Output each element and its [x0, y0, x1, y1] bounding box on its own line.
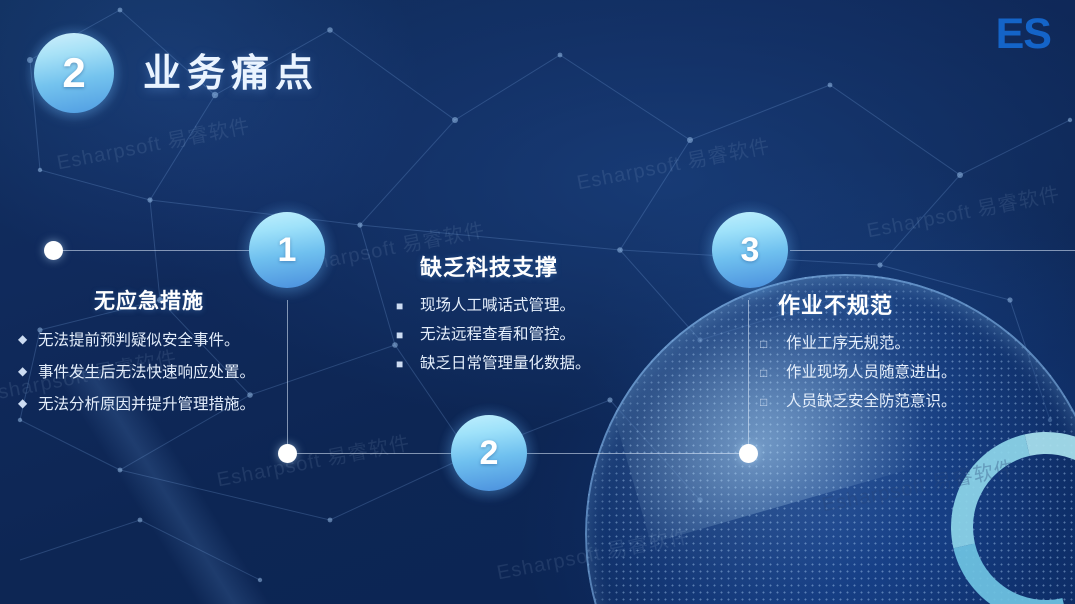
connector-line-left-top [62, 250, 250, 251]
diamond-bullet-icon: ◆ [18, 325, 38, 353]
list-item-text: 人员缺乏安全防范意识。 [786, 388, 1060, 416]
diamond-bullet-icon: ◆ [18, 389, 38, 417]
list-item-text: 无法远程查看和管控。 [420, 321, 696, 349]
page-title: 业务痛点 [143, 42, 319, 97]
hollow-square-bullet-icon: □ [760, 388, 786, 416]
list-item: □ 人员缺乏安全防范意识。 [760, 388, 1060, 416]
hollow-square-bullet-icon: □ [760, 330, 786, 358]
column-heading-right: 作业不规范 [760, 288, 1060, 320]
diamond-bullet-icon: ◆ [18, 357, 38, 385]
list-item: ◆ 事件发生后无法快速响应处置。 [18, 357, 264, 388]
bullet-list-right: □ 作业工序无规范。 □ 作业现场人员随意进出。 □ 人员缺乏安全防范意识。 [760, 330, 1060, 416]
endpoint-dot-bottom-right [739, 444, 758, 463]
endpoint-dot-bottom-left [278, 444, 297, 463]
list-item: ◆ 无法提前预判疑似安全事件。 [18, 325, 264, 356]
list-item-text: 作业工序无规范。 [786, 330, 1060, 358]
filled-square-bullet-icon: ■ [396, 350, 420, 378]
column-lack-of-technology-support: 缺乏科技支撑 ■ 现场人工喊话式管理。 ■ 无法远程查看和管控。 ■ 缺乏日常管… [396, 250, 696, 379]
column-no-emergency-measures: 无应急措施 ◆ 无法提前预判疑似安全事件。 ◆ 事件发生后无法快速响应处置。 ◆… [18, 285, 264, 421]
list-item-text: 无法提前预判疑似安全事件。 [38, 325, 264, 356]
list-item: □ 作业现场人员随意进出。 [760, 359, 1060, 387]
list-item-text: 事件发生后无法快速响应处置。 [38, 357, 264, 388]
node-circle-2[interactable]: 2 [439, 403, 539, 503]
connector-line-node1-down [287, 300, 288, 453]
header-step-number: 2 [25, 24, 123, 122]
list-item-text: 无法分析原因并提升管理措施。 [38, 389, 264, 420]
column-non-standard-operations: 作业不规范 □ 作业工序无规范。 □ 作业现场人员随意进出。 □ 人员缺乏安全防… [760, 288, 1060, 417]
filled-square-bullet-icon: ■ [396, 321, 420, 349]
es-logo: ES [996, 10, 1051, 59]
connector-line-right-top [790, 250, 1075, 251]
connector-line-node3-down [748, 300, 749, 453]
node-circle-3[interactable]: 3 [700, 200, 800, 300]
node-number-3: 3 [700, 200, 800, 300]
endpoint-dot-left [44, 241, 63, 260]
list-item: ■ 缺乏日常管理量化数据。 [396, 350, 696, 378]
filled-square-bullet-icon: ■ [396, 292, 420, 320]
bullet-list-left: ◆ 无法提前预判疑似安全事件。 ◆ 事件发生后无法快速响应处置。 ◆ 无法分析原… [18, 325, 264, 420]
node-number-2: 2 [439, 403, 539, 503]
list-item-text: 作业现场人员随意进出。 [786, 359, 1060, 387]
column-heading-left: 无应急措施 [18, 285, 264, 315]
slide-canvas: Esharpsoft 易睿软件 Esharpsoft 易睿软件 Esharpso… [0, 0, 1075, 604]
list-item: ■ 现场人工喊话式管理。 [396, 292, 696, 320]
list-item: ◆ 无法分析原因并提升管理措施。 [18, 389, 264, 420]
list-item: ■ 无法远程查看和管控。 [396, 321, 696, 349]
list-item-text: 缺乏日常管理量化数据。 [420, 350, 696, 378]
list-item: □ 作业工序无规范。 [760, 330, 1060, 358]
hollow-square-bullet-icon: □ [760, 359, 786, 387]
column-heading-middle: 缺乏科技支撑 [396, 250, 696, 282]
list-item-text: 现场人工喊话式管理。 [420, 292, 696, 320]
bullet-list-middle: ■ 现场人工喊话式管理。 ■ 无法远程查看和管控。 ■ 缺乏日常管理量化数据。 [396, 292, 696, 378]
